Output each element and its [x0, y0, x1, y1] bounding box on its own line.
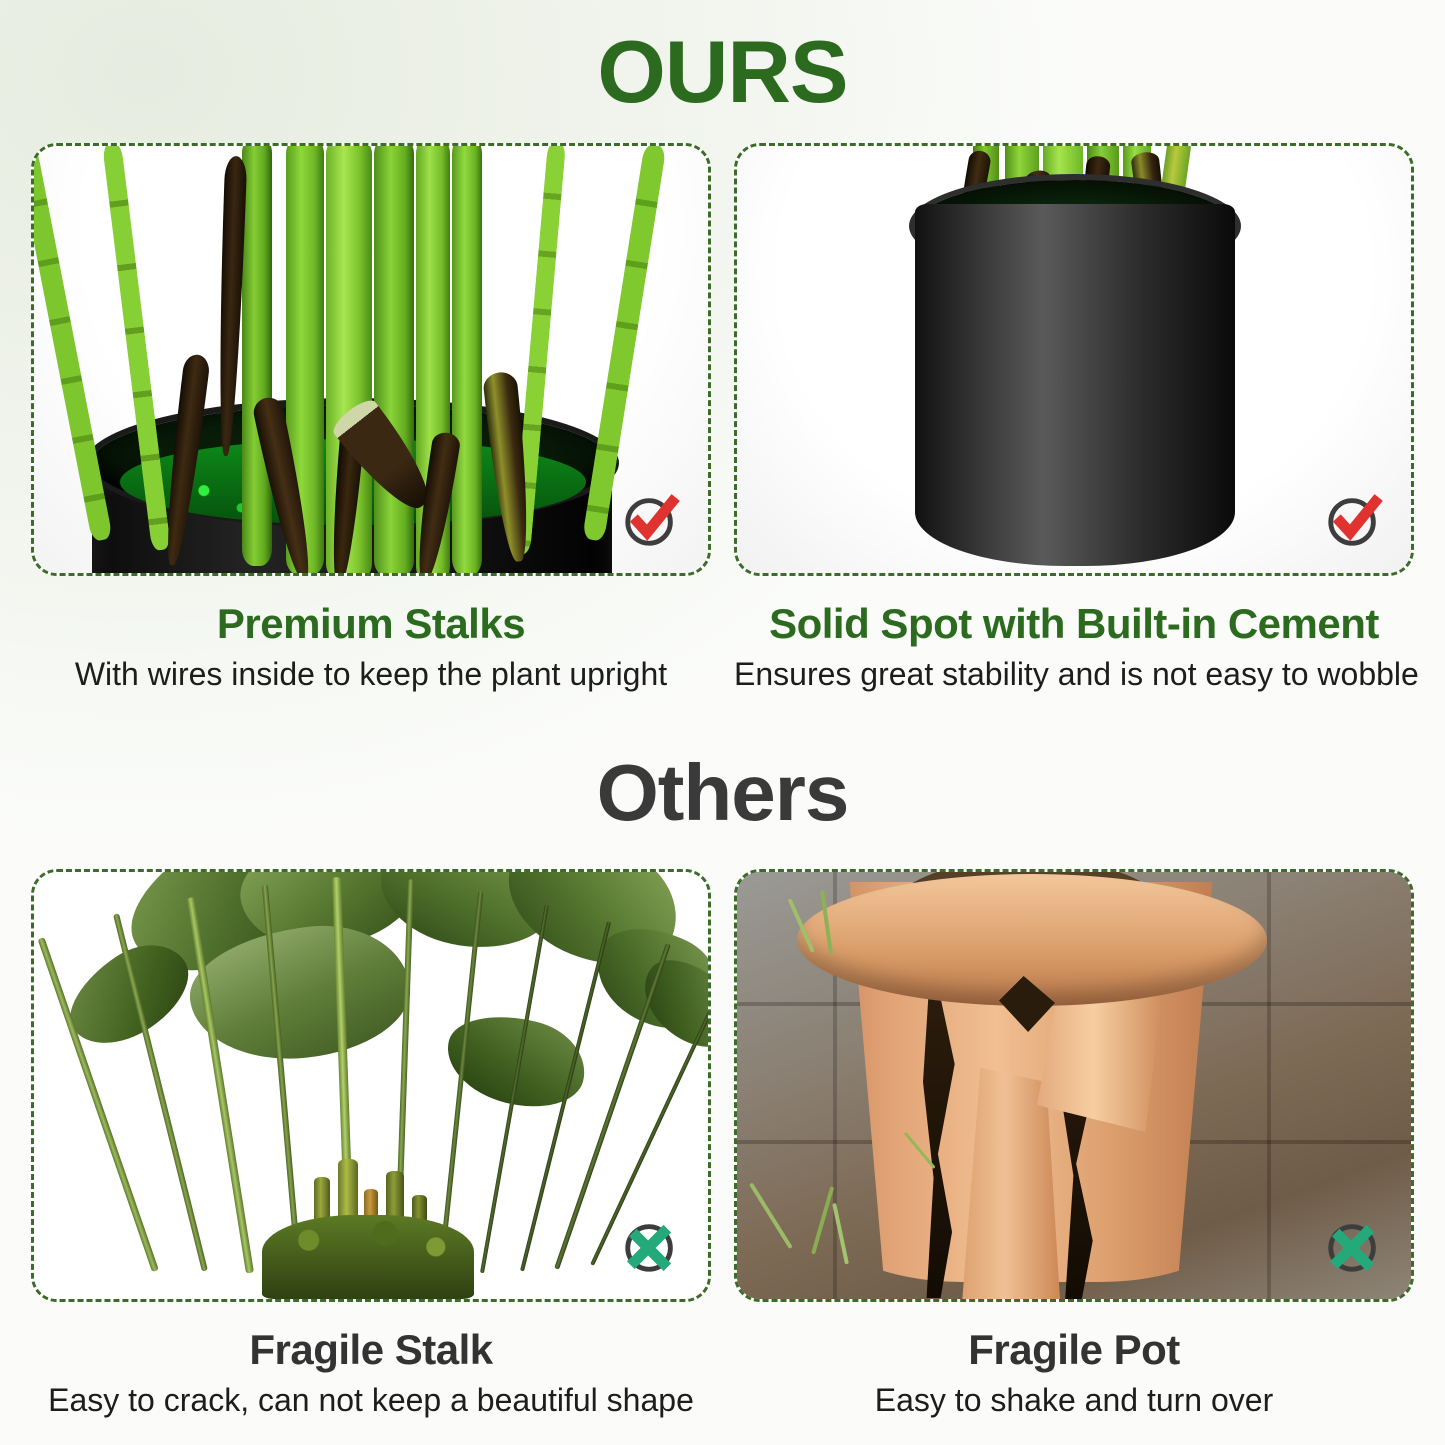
photo-fragile-plant — [34, 872, 708, 1299]
card-subtitle: Easy to crack, can not keep a beautiful … — [31, 1376, 711, 1424]
image-frame-fragile-stalk — [31, 869, 711, 1302]
x-circle-icon — [620, 1215, 682, 1277]
card-title: Fragile Pot — [734, 1324, 1414, 1376]
check-circle-icon — [620, 489, 682, 551]
card-title: Premium Stalks — [31, 598, 711, 650]
card-premium-stalks: Premium Stalks With wires inside to keep… — [31, 143, 711, 698]
moss-base — [262, 1215, 474, 1299]
comparison-infographic: OURS — [0, 0, 1445, 1445]
ours-card-row: Premium Stalks With wires inside to keep… — [31, 143, 1414, 698]
image-frame-premium-stalks — [31, 143, 711, 576]
photo-cracked-terracotta-pot — [737, 872, 1411, 1299]
others-section-title: Others — [0, 745, 1445, 841]
card-subtitle: Ensures great stability and is not easy … — [734, 650, 1414, 698]
caption-premium-stalks: Premium Stalks With wires inside to keep… — [31, 576, 711, 698]
photo-premium-stalks — [34, 146, 708, 573]
photo-black-cylinder-pot — [737, 146, 1411, 573]
card-subtitle: With wires inside to keep the plant upri… — [31, 650, 711, 698]
stalk — [452, 146, 482, 573]
stalk — [242, 146, 272, 566]
card-fragile-stalk: Fragile Stalk Easy to crack, can not kee… — [31, 869, 711, 1424]
caption-fragile-stalk: Fragile Stalk Easy to crack, can not kee… — [31, 1302, 711, 1424]
image-frame-fragile-pot — [734, 869, 1414, 1302]
image-frame-solid-spot — [734, 143, 1414, 576]
card-title: Fragile Stalk — [31, 1324, 711, 1376]
card-fragile-pot: Fragile Pot Easy to shake and turn over — [734, 869, 1414, 1424]
others-card-row: Fragile Stalk Easy to crack, can not kee… — [31, 869, 1414, 1424]
caption-fragile-pot: Fragile Pot Easy to shake and turn over — [734, 1302, 1414, 1424]
stalk — [374, 146, 414, 573]
x-circle-icon — [1323, 1215, 1385, 1277]
card-solid-spot: Solid Spot with Built-in Cement Ensures … — [734, 143, 1414, 698]
check-circle-icon — [1323, 489, 1385, 551]
black-cylinder-body — [915, 204, 1235, 566]
stalk — [582, 146, 666, 542]
stalk — [34, 146, 113, 542]
card-subtitle: Easy to shake and turn over — [734, 1376, 1414, 1424]
caption-solid-spot: Solid Spot with Built-in Cement Ensures … — [734, 576, 1414, 698]
ours-section-title: OURS — [0, 20, 1445, 124]
card-title: Solid Spot with Built-in Cement — [734, 598, 1414, 650]
